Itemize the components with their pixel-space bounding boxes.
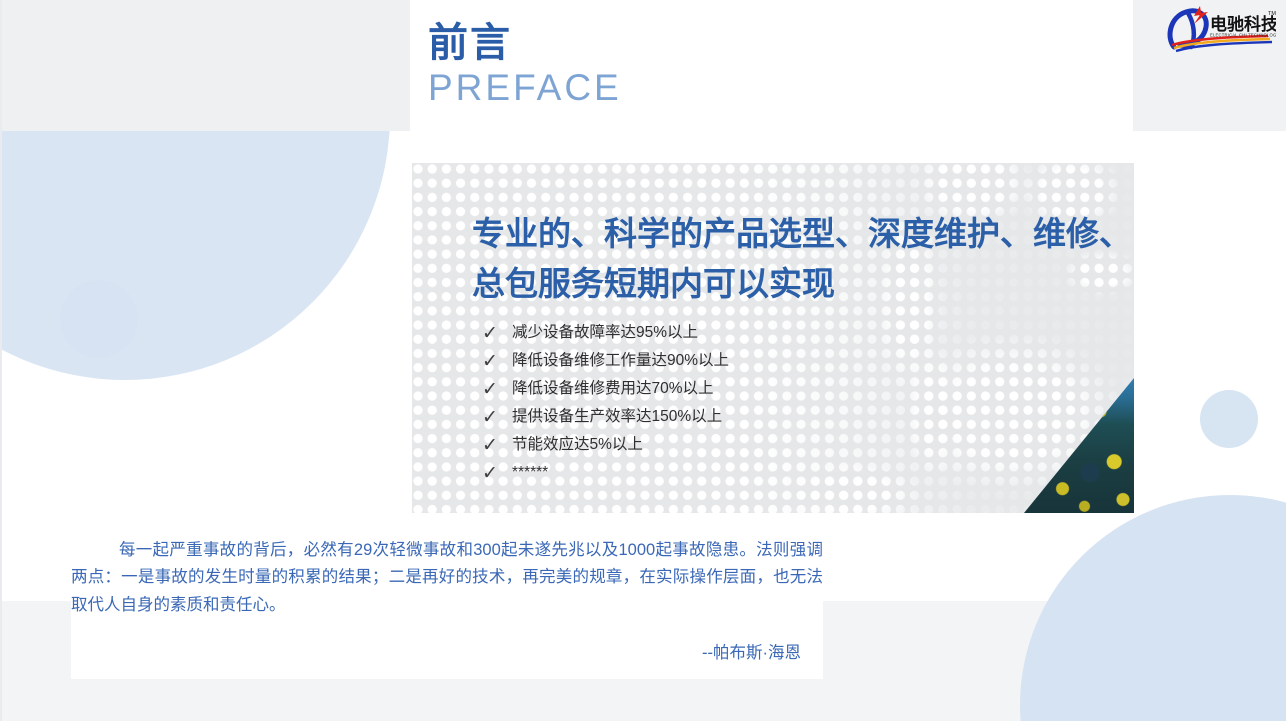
list-item-label: 降低设备维修费用达70%以上: [512, 380, 714, 399]
page-title-cn: 前言: [428, 22, 1048, 65]
quote-author: --帕布斯·海恩: [702, 639, 801, 663]
list-item: ✓ 减少设备故障率达95%以上: [478, 319, 898, 347]
content-card: 专业的、科学的产品选型、深度维护、维修、 总包服务短期内可以实现 ✓ 减少设备故…: [412, 163, 1134, 513]
card-heading-line2: 总包服务短期内可以实现: [472, 259, 1134, 309]
check-icon: ✓: [478, 324, 512, 343]
list-item-label: ******: [512, 464, 548, 483]
logo-mark-icon: 电驰科技 ELECTRICAL CHI TECHNOLOGY TM: [1164, 3, 1276, 53]
list-item: ✓ 提供设备生产效率达150%以上: [478, 403, 898, 431]
page-title-en: PREFACE: [428, 68, 1048, 109]
card-heading-line1: 专业的、科学的产品选型、深度维护、维修、: [472, 215, 1132, 252]
list-item: ✓ 节能效应达5%以上: [478, 431, 898, 459]
decorative-circle-small-right: [1200, 390, 1258, 448]
check-icon: ✓: [478, 380, 512, 399]
list-item-label: 提供设备生产效率达150%以上: [512, 408, 722, 427]
benefits-list: ✓ 减少设备故障率达95%以上 ✓ 降低设备维修工作量达90%以上 ✓ 降低设备…: [478, 319, 898, 487]
list-item: ✓ 降低设备维修费用达70%以上: [478, 375, 898, 403]
page-title: 前言 PREFACE: [428, 22, 1048, 109]
svg-text:电驰科技: 电驰科技: [1210, 14, 1276, 34]
quote-text: 每一起严重事故的背后，必然有29次轻微事故和300起未遂先兆以及1000起事故隐…: [71, 537, 823, 619]
company-logo: 电驰科技 ELECTRICAL CHI TECHNOLOGY TM: [1164, 3, 1276, 53]
slide-preface: 前言 PREFACE 电驰科技 ELECTRICAL CHI TECHNOLOG…: [0, 0, 1286, 721]
left-hairline: [0, 0, 2, 721]
header-left-gray-strip: [0, 0, 410, 131]
list-item: ✓ ******: [478, 459, 898, 487]
decorative-circle-small-left: [60, 280, 138, 358]
svg-text:ELECTRICAL CHI TECHNOLOGY: ELECTRICAL CHI TECHNOLOGY: [1210, 33, 1276, 38]
check-icon: ✓: [478, 408, 512, 427]
quote-box: 每一起严重事故的背后，必然有29次轻微事故和300起未遂先兆以及1000起事故隐…: [71, 517, 823, 679]
check-icon: ✓: [478, 352, 512, 371]
check-icon: ✓: [478, 436, 512, 455]
list-item: ✓ 降低设备维修工作量达90%以上: [478, 347, 898, 375]
check-icon: ✓: [478, 464, 512, 483]
list-item-label: 减少设备故障率达95%以上: [512, 324, 698, 343]
svg-text:TM: TM: [1268, 11, 1276, 17]
list-item-label: 节能效应达5%以上: [512, 436, 643, 455]
list-item-label: 降低设备维修工作量达90%以上: [512, 352, 729, 371]
card-heading: 专业的、科学的产品选型、深度维护、维修、 总包服务短期内可以实现: [472, 209, 1134, 309]
